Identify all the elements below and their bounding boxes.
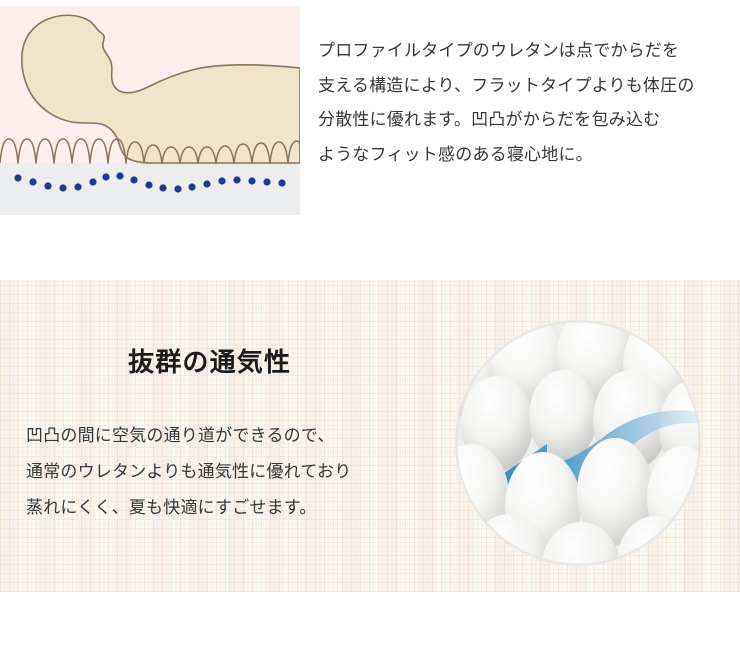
breathability-description: 凹凸の間に空気の通り道ができるので、 通常のウレタンよりも通気性に優れており 蒸…: [26, 418, 426, 526]
top-copy-line-3: 分散性に優れます。凹凸がからだを包み込む: [318, 103, 730, 138]
profile-foam-description: プロファイルタイプのウレタンは点でからだを 支える構造により、フラットタイプより…: [318, 34, 730, 172]
top-copy-line-4: ようなフィット感のある寝心地に。: [318, 138, 730, 173]
breathability-copy-line-2: 通常のウレタンよりも通気性に優れており: [26, 454, 426, 490]
pressure-dots: [14, 172, 285, 192]
sleeper-foam-diagram: [0, 0, 300, 222]
breathability-copy-line-1: 凹凸の間に空気の通り道ができるので、: [26, 418, 426, 454]
breathability-copy-line-3: 蒸れにくく、夏も快適にすごせます。: [26, 490, 426, 526]
top-copy-line-1: プロファイルタイプのウレタンは点でからだを: [318, 34, 730, 69]
top-copy-line-2: 支える構造により、フラットタイプよりも体圧の: [318, 69, 730, 104]
foam-surface-illustration: [455, 320, 701, 566]
breathability-heading: 抜群の通気性: [128, 342, 291, 379]
illustration-bottom-white-strip: [0, 215, 300, 222]
side-sleeper-illustration-panel: [0, 0, 300, 222]
top-section: プロファイルタイプのウレタンは点でからだを 支える構造により、フラットタイプより…: [0, 0, 740, 232]
profile-foam-closeup-photo: [455, 320, 701, 566]
